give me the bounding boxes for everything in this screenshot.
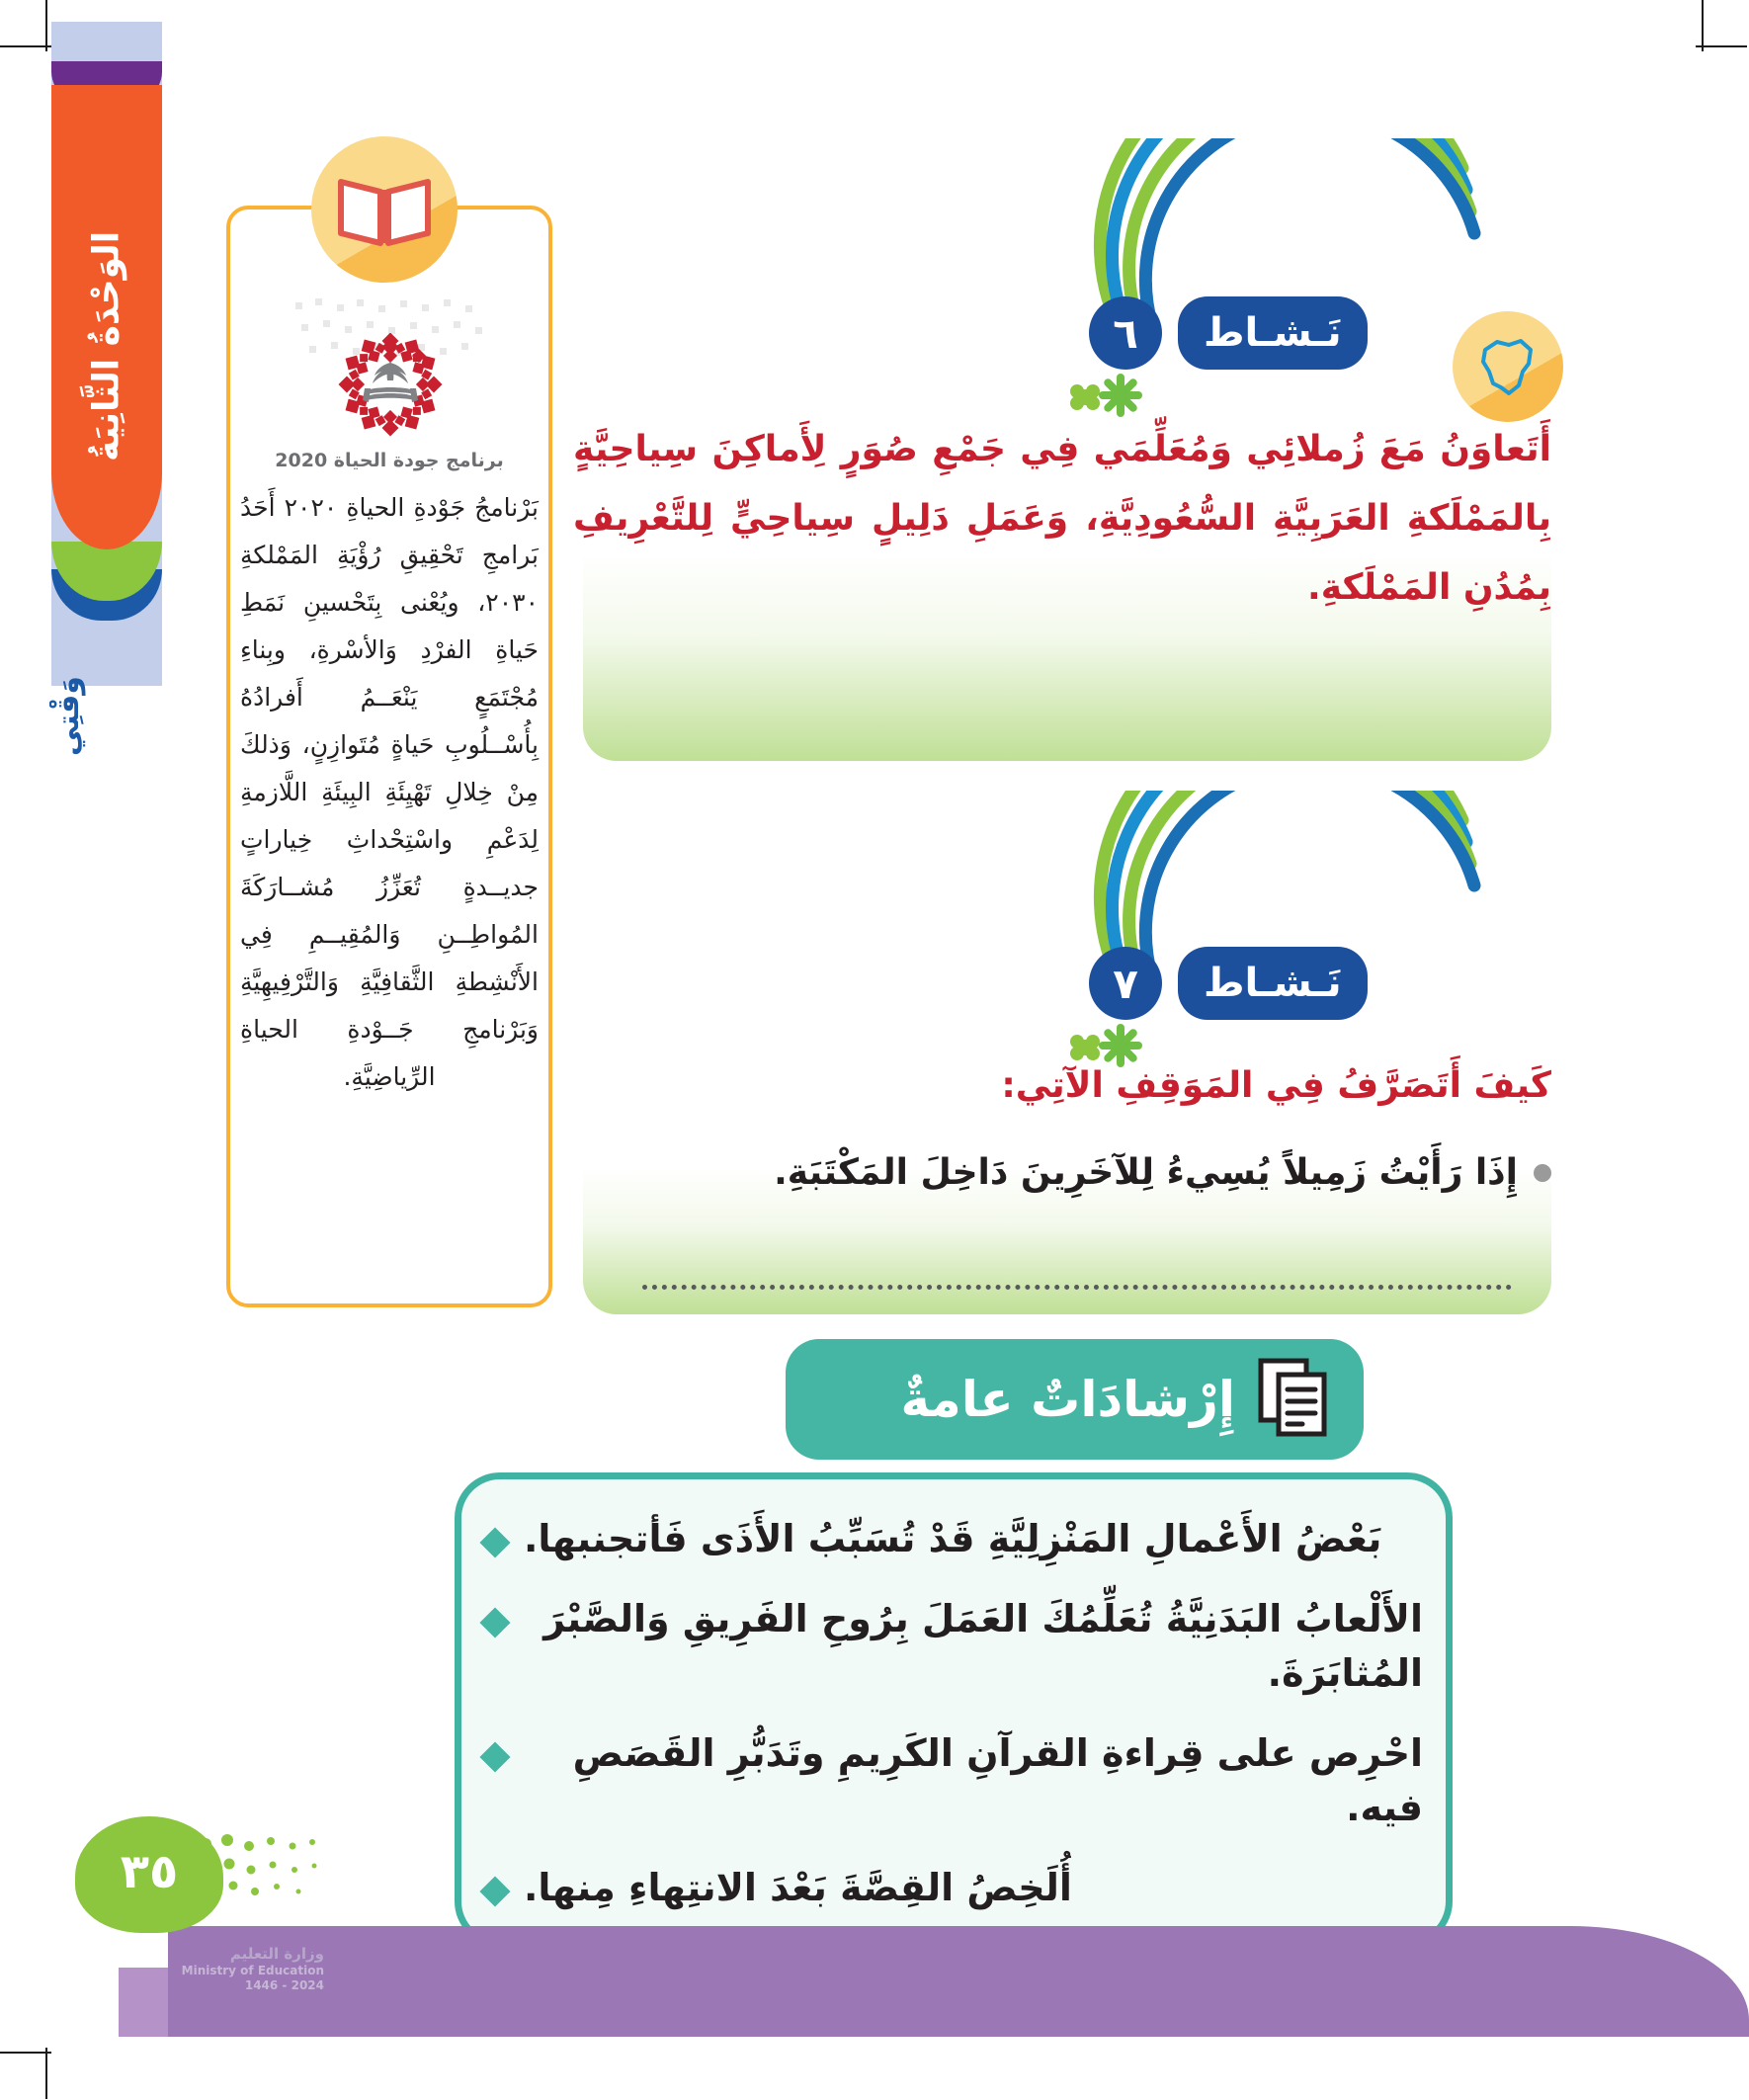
list-item: أُلَخِصُ القِصَّةَ بَعْدَ الانتِهاءِ مِن… — [484, 1861, 1423, 1915]
vision-info-text: بَرْنامجُ جَوْدةِ الحياةِ ٢٠٢٠ أَحَدُ بَ… — [240, 484, 539, 1101]
open-book-icon — [311, 136, 458, 283]
crop-mark-left-bottom — [0, 2052, 51, 2054]
list-item: الأَلْعابُ البَدَنِيَّةُ تُعَلِّمُكَ الع… — [484, 1592, 1423, 1701]
activity-label-7: نَـشـاط — [1178, 947, 1368, 1020]
crop-mark-bottom-left — [45, 2048, 47, 2099]
page-number: ٣٥ — [121, 1844, 179, 1899]
diamond-bullet-icon — [479, 1608, 510, 1638]
ministry-name-arabic: وزارة التعليم — [87, 1945, 324, 1964]
diamond-bullet-icon — [479, 1742, 510, 1773]
bullet-dot-icon — [1534, 1164, 1551, 1182]
answer-line[interactable] — [642, 1285, 1512, 1290]
list-item: بَعْضُ الأَعْمالِ المَنْزِلِيَّةِ قَدْ ت… — [484, 1512, 1423, 1566]
page-dot-decoration — [198, 1830, 326, 1903]
activity-7-prompt: كَيفَ أَتَصَرَّفُ فِي المَوَقِفِ الآتِي: — [692, 1065, 1551, 1106]
textbook-page: الوَحْدَةُ الثَّانِيَةُ وَقْتِي — [0, 0, 1749, 2100]
activity-6-text: أَتَعاوَنُ مَعَ زُملائِي وَمُعَلِّمَي فِ… — [573, 415, 1551, 624]
crop-mark-top-right — [1702, 0, 1704, 51]
guideline-text: الأَلْعابُ البَدَنِيَّةُ تُعَلِّمُكَ الع… — [524, 1592, 1423, 1701]
vision-logo-caption: برنامج جودة الحياة 2020 — [226, 450, 552, 471]
diamond-bullet-icon — [479, 1877, 510, 1907]
guideline-text: بَعْضُ الأَعْمالِ المَنْزِلِيَّةِ قَدْ ت… — [524, 1512, 1381, 1566]
guidelines-list: بَعْضُ الأَعْمالِ المَنْزِلِيَّةِ قَدْ ت… — [484, 1512, 1423, 1942]
activity-7-bullet-row: إِذَا رَأَيْتُ زَمِيلاً يُسِيءُ لِلآخَرِ… — [692, 1146, 1551, 1200]
saudi-arabia-map-icon — [1453, 311, 1563, 422]
ministry-logo-text: وزارة التعليم Ministry of Education 2024… — [87, 1945, 324, 1993]
activity-7-bullet-text: إِذَا رَأَيْتُ زَمِيلاً يُسِيءُ لِلآخَرِ… — [774, 1146, 1518, 1200]
unit-title: الوَحْدَةُ الثَّانِيَةُ — [51, 148, 162, 544]
crop-mark-left-top — [0, 45, 51, 47]
guideline-text: احْرِص على قِراءةِ القرآنِ الكَرِيمِ وتَ… — [524, 1726, 1423, 1835]
activity-number-7: ٧ — [1089, 947, 1162, 1020]
crop-mark-right-top — [1696, 45, 1747, 47]
diamond-bullet-icon — [479, 1527, 510, 1557]
unit-subtitle: وَقْتِي — [51, 642, 162, 791]
publication-year: 2024 - 1446 — [87, 1978, 324, 1993]
activity-number-6: ٦ — [1089, 296, 1162, 370]
ministry-name-english: Ministry of Education — [87, 1964, 324, 1978]
list-item: احْرِص على قِراءةِ القرآنِ الكَرِيمِ وتَ… — [484, 1726, 1423, 1835]
activity-label-6: نَـشـاط — [1178, 296, 1368, 370]
footer-wave-dark — [168, 1926, 1749, 2037]
guidelines-title: إِرْشادَاتٌ عامةٌ — [900, 1371, 1235, 1428]
saudi-vision-emblem-icon — [301, 331, 479, 445]
documents-icon — [1257, 1357, 1330, 1442]
guidelines-header: إِرْشادَاتٌ عامةٌ — [786, 1339, 1364, 1460]
crop-mark-top-left — [45, 0, 47, 51]
guideline-text: أُلَخِصُ القِصَّةَ بَعْدَ الانتِهاءِ مِن… — [524, 1861, 1072, 1915]
